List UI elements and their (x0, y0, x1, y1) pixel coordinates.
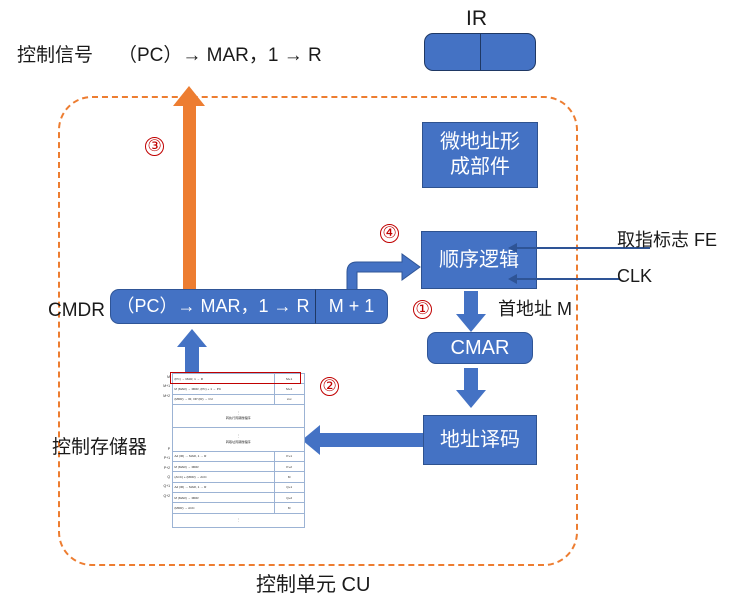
control-store-row[interactable]: M (MAR) → MDRP+2 (173, 461, 305, 471)
control-store-row[interactable]: (ACC) + (MDR) → ACCM (173, 472, 305, 482)
micro-address-former-line2: 成部件 (450, 156, 510, 178)
marker-one: ① (413, 300, 432, 319)
control-store-address-label: M+1 (146, 382, 170, 391)
diagram-canvas: IR 控制信号 （PC）→ MAR，1 → R ③ 微地址形 成部件 顺序逻辑 … (0, 0, 729, 604)
control-store-microinstruction-cell: M (MAR) → MDR, (PC) + 1 → PC (173, 384, 275, 394)
control-store-address-label: Q (146, 473, 170, 482)
control-store-row[interactable]: (MDR) → ACCM (173, 503, 305, 513)
control-store-next-address-cell: Q+1 (274, 482, 304, 492)
address-decode-box[interactable]: 地址译码 (423, 415, 537, 465)
cu-title: 控制单元 CU (256, 575, 370, 595)
control-store-address-label (146, 501, 170, 514)
control-store-microinstruction-cell: Ad (IR) → MAR, 1 → R (173, 451, 275, 461)
control-store-address-label: P (146, 445, 170, 454)
table-to-cmdr-arrow-shaft (185, 347, 199, 374)
control-store-row[interactable]: (MDR) → IR, OP (IR) → CUxxx (173, 394, 305, 404)
control-store-span-cell: ⋮转取址周期微程序 (173, 428, 305, 451)
control-store-address-label (146, 423, 170, 445)
control-store-row[interactable]: ⋮转执行周期微程序 (173, 405, 305, 428)
control-store-microinstruction-cell: (ACC) + (MDR) → ACC (173, 472, 275, 482)
sequence-logic-box[interactable]: 顺序逻辑 (421, 231, 537, 289)
cmdr-label: CMDR (48, 301, 105, 320)
control-store-row-labels: MM+1M+2PP+1P+2QQ+1Q+2 (146, 373, 170, 514)
control-store-highlight-box (170, 372, 301, 384)
marker-two: ② (320, 377, 339, 396)
control-store-microinstruction-cell: (MDR) → IR, OP (IR) → CU (173, 394, 275, 404)
control-store-span-cell: ⋮ (173, 513, 305, 527)
control-store-span-cell: ⋮转执行周期微程序 (173, 405, 305, 428)
sequence-to-cmar-arrow-shaft (464, 291, 478, 314)
control-store-next-address-cell: xxx (274, 394, 304, 404)
cmar-to-decoder-arrow-shaft (464, 368, 478, 390)
control-store-next-address-cell: P+1 (274, 451, 304, 461)
cmar-to-decoder-arrow-head (456, 390, 486, 408)
control-store-microinstruction-cell: (MDR) → ACC (173, 503, 275, 513)
control-store-microinstruction-cell: M (MAR) → MDR (173, 461, 275, 471)
clock-line (515, 278, 620, 280)
control-store-address-label: M (146, 373, 170, 382)
control-store-next-address-cell: Q+2 (274, 493, 304, 503)
control-store-address-label: Q+2 (146, 492, 170, 501)
control-signal-arrow-head (173, 86, 205, 106)
ir-label: IR (466, 8, 487, 29)
control-store-row[interactable]: ⋮转取址周期微程序 (173, 428, 305, 451)
cmar-box[interactable]: CMAR (427, 332, 533, 364)
ir-divider (480, 34, 481, 70)
first-address-label: 首地址 M (498, 300, 572, 318)
control-store-row[interactable]: Ad (IR) → MAR, 1 → RP+1 (173, 451, 305, 461)
control-store-address-label: P+2 (146, 464, 170, 473)
control-store-row[interactable]: M (MAR) → MDRQ+2 (173, 493, 305, 503)
decoder-to-store-arrow-shaft (320, 433, 423, 447)
control-store-row[interactable]: ⋮ (173, 513, 305, 527)
clock-arrow-head (508, 274, 517, 284)
fetch-flag-arrow-head (508, 243, 517, 253)
control-store-microinstruction-cell: M (MAR) → MDR (173, 493, 275, 503)
sequence-to-cmar-arrow-head (456, 314, 486, 332)
control-store-label: 控制存储器 (52, 438, 147, 457)
cmdr-next-address-cell[interactable]: M + 1 (315, 289, 388, 324)
decoder-to-store-arrow-head (302, 425, 320, 455)
control-store-address-label: P+1 (146, 454, 170, 463)
marker-four: ④ (380, 224, 399, 243)
control-store-address-label: M+2 (146, 392, 170, 401)
control-store-table[interactable]: (PC) → MAR, 1 → RM+1M (MAR) → MDR, (PC) … (172, 373, 305, 528)
clock-label: CLK (617, 267, 652, 285)
control-store-next-address-cell: M (274, 503, 304, 513)
control-store-address-label: Q+1 (146, 482, 170, 491)
control-signal-label: 控制信号 (17, 46, 93, 65)
control-signal-arrow-shaft (183, 104, 196, 289)
control-store-next-address-cell: M (274, 472, 304, 482)
table-to-cmdr-arrow-head (177, 329, 207, 347)
control-store-address-label (146, 401, 170, 423)
control-store-microinstruction-cell: Ad (IR) → MAR, 1 → R (173, 482, 275, 492)
control-store-next-address-cell: P+2 (274, 461, 304, 471)
control-store-row[interactable]: Ad (IR) → MAR, 1 → RQ+1 (173, 482, 305, 492)
micro-address-former-line1: 微地址形 (440, 131, 520, 153)
cmdr-microinstruction-cell[interactable]: （PC）→ MAR，1 → R (110, 289, 315, 324)
marker-three: ③ (145, 137, 164, 156)
control-store-row[interactable]: M (MAR) → MDR, (PC) + 1 → PCM+2 (173, 384, 305, 394)
control-store-next-address-cell: M+2 (274, 384, 304, 394)
control-signal-expression: （PC）→ MAR，1 → R (118, 46, 322, 65)
fetch-flag-label: 取指标志 FE (617, 231, 717, 249)
micro-address-former-box[interactable]: 微地址形 成部件 (422, 122, 538, 188)
